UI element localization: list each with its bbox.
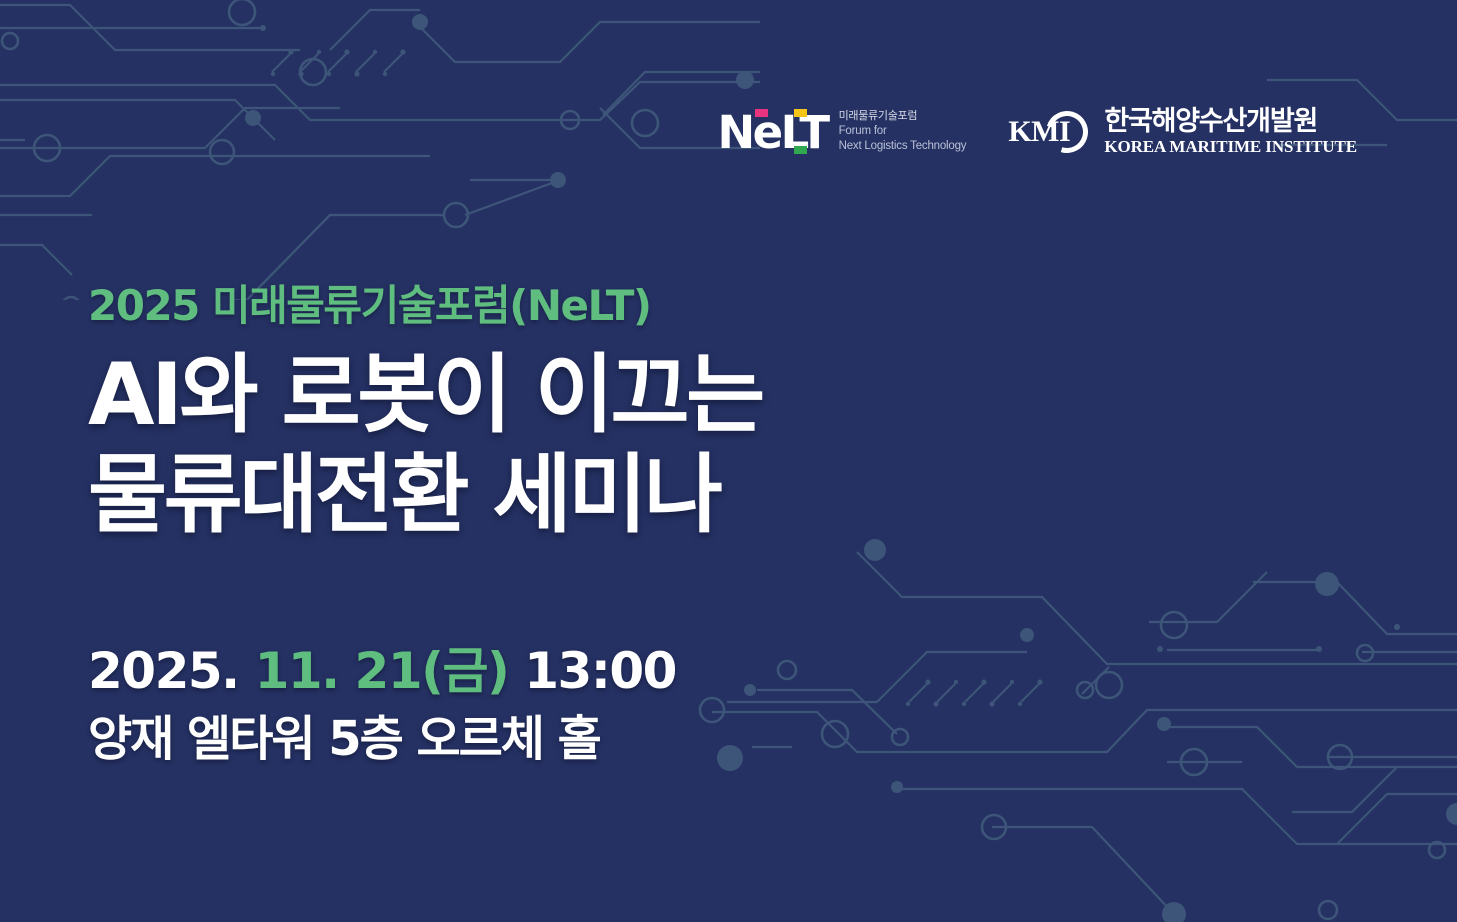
nelt-wordmark: NeLT	[717, 110, 827, 155]
nelt-tick-yellow-icon	[794, 109, 807, 117]
circuit-pattern-top-left	[0, 0, 760, 300]
kmi-name-en: KOREA MARITIME INSTITUTE	[1104, 138, 1357, 156]
event-venue: 양재 엘타워 5층 오르체 홀	[88, 711, 988, 768]
event-poster: NeLT 미래물류기술포럼 Forum for Next Logistics T…	[0, 0, 1457, 922]
kmi-wordmark: KMI	[1006, 115, 1070, 149]
logo-bar: NeLT 미래물류기술포럼 Forum for Next Logistics T…	[717, 108, 1357, 156]
nelt-logo: NeLT 미래물류기술포럼 Forum for Next Logistics T…	[717, 110, 966, 155]
event-date: 11. 21(금)	[255, 642, 509, 700]
event-year: 2025.	[88, 642, 239, 700]
nelt-tagline: 미래물류기술포럼 Forum for Next Logistics Techno…	[837, 110, 967, 153]
nelt-wordmark-text: NeLT	[717, 106, 827, 159]
kmi-emblem: KMI	[1006, 108, 1092, 156]
headline-line-1: AI와 로봇이 이끄는	[88, 346, 988, 446]
kmi-logo: KMI 한국해양수산개발원 KOREA MARITIME INSTITUTE	[1006, 108, 1357, 156]
headline-line-2: 물류대전환 세미나	[88, 446, 988, 546]
kmi-name-block: 한국해양수산개발원 KOREA MARITIME INSTITUTE	[1104, 108, 1357, 156]
forum-eyebrow: 2025 미래물류기술포럼(NeLT)	[88, 282, 988, 330]
nelt-tagline-ko: 미래물류기술포럼	[839, 110, 967, 123]
nelt-tagline-en2: Next Logistics Technology	[839, 139, 967, 153]
kmi-name-ko: 한국해양수산개발원	[1104, 108, 1357, 136]
nelt-tick-green-icon	[794, 146, 807, 154]
poster-copy: 2025 미래물류기술포럼(NeLT) AI와 로봇이 이끄는 물류대전환 세미…	[88, 282, 988, 767]
nelt-tick-pink-icon	[755, 109, 768, 117]
event-time: 13:00	[524, 642, 676, 700]
event-datetime: 2025. 11. 21(금) 13:00	[88, 642, 988, 701]
page-title: AI와 로봇이 이끄는 물류대전환 세미나	[88, 346, 988, 546]
nelt-tagline-en1: Forum for	[839, 124, 967, 138]
